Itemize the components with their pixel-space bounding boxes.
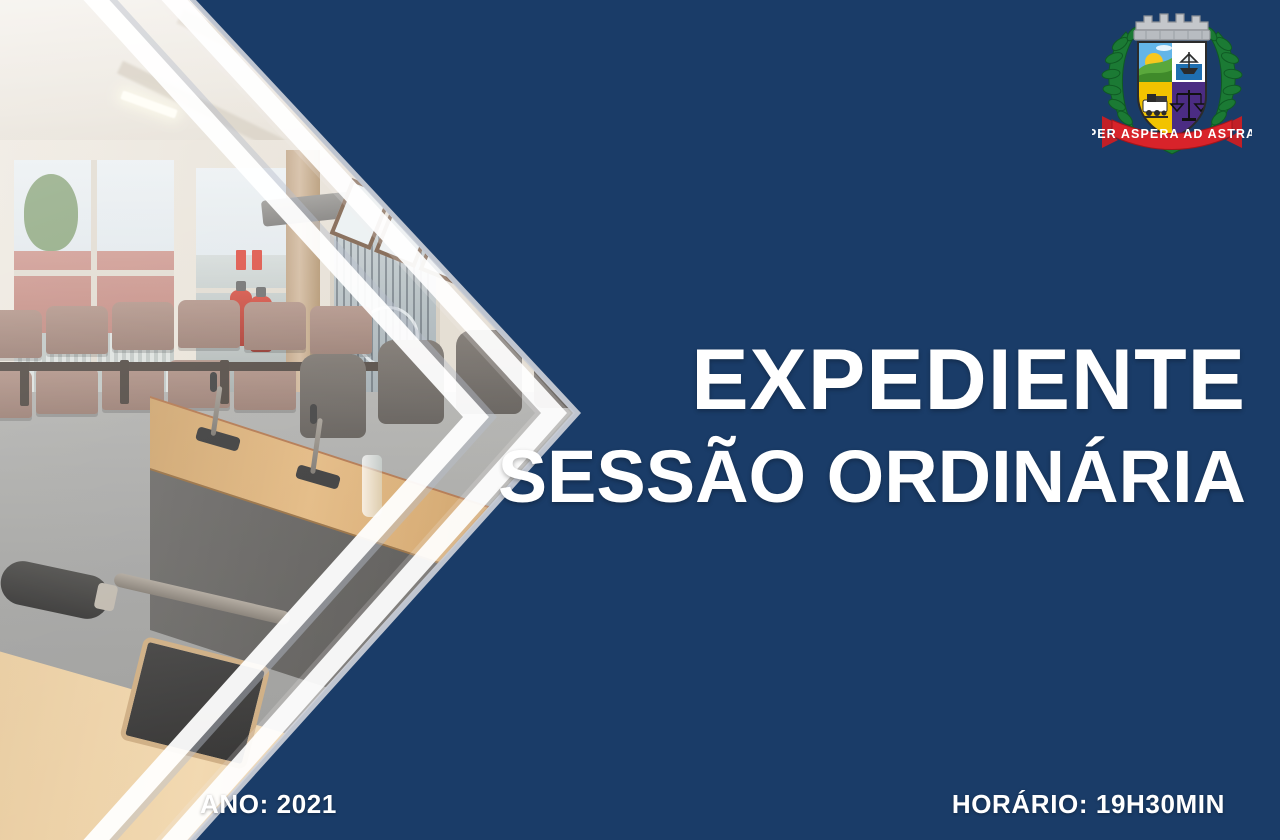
laurel-wreath-left [1101, 25, 1141, 128]
ceiling-light [330, 60, 390, 90]
foreground-microphone [0, 560, 250, 622]
wall-sign [236, 250, 246, 270]
motto-text: PER ASPERA AD ASTRA [1092, 127, 1252, 141]
ceiling [0, 0, 660, 150]
wall-sign [252, 250, 262, 270]
laurel-wreath-right [1203, 25, 1243, 128]
coat-of-arms: PER ASPERA AD ASTRA [1092, 4, 1252, 156]
title-block: EXPEDIENTE SESSÃO ORDINÁRIA [0, 336, 1246, 517]
page-subtitle: SESSÃO ORDINÁRIA [0, 437, 1246, 517]
time-label: HORÁRIO: 19H30MIN [952, 789, 1225, 820]
year-label: ANO: 2021 [200, 789, 337, 820]
page-title: EXPEDIENTE [0, 336, 1246, 425]
mural-crown [1134, 14, 1210, 40]
slide-canvas: PER ASPERA AD ASTRA EXPEDIENTE SESSÃO OR… [0, 0, 1280, 840]
